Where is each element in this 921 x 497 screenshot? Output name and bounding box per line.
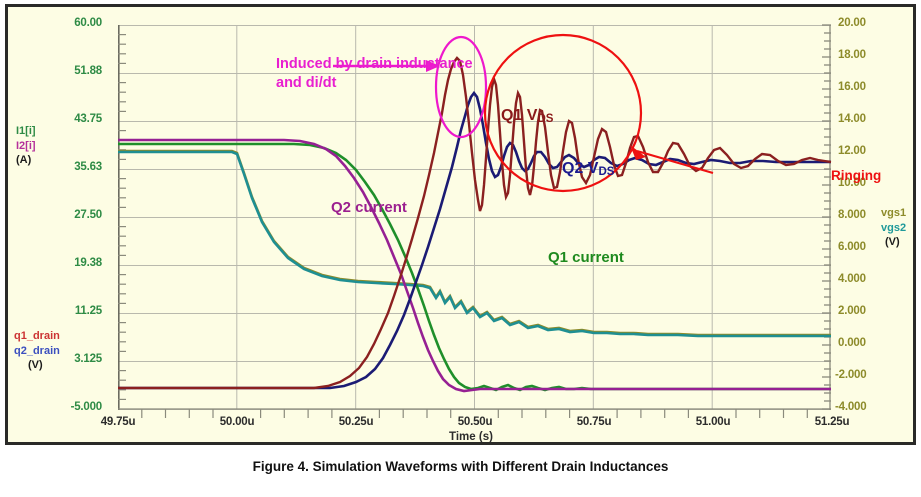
x-tick-6: 51.25u	[794, 416, 870, 428]
x-axis-title: Time (s)	[391, 431, 551, 443]
right-tick-0: 20.00	[838, 17, 866, 29]
x-tick-5: 51.00u	[675, 416, 751, 428]
legend-q2-drain: q2_drain	[14, 344, 60, 359]
legend-i1: I1[i]	[16, 124, 36, 139]
right-tick-9: 2.000	[838, 305, 866, 317]
x-tick-0: 49.75u	[80, 416, 156, 428]
red-arrow	[630, 145, 713, 173]
left-legend-drains: q1_drain q2_drain (V)	[14, 329, 60, 373]
annotation-q2-vds-subscript: DS	[598, 166, 614, 178]
right-tick-3: 14.00	[838, 113, 866, 125]
x-tick-1: 50.00u	[199, 416, 275, 428]
annotation-q2-vds-text: Q2 V	[562, 160, 598, 177]
legend-current-unit: (A)	[16, 153, 36, 168]
x-tick-3: 50.50u	[437, 416, 513, 428]
legend-vgs-unit: (V)	[881, 235, 906, 250]
annotation-q1-vds-subscript: DS	[537, 113, 553, 125]
left-tick-1: 51.88	[30, 65, 102, 77]
right-tick-2: 16.00	[838, 81, 866, 93]
plot-canvas: Induced by drain inductance and di/dt Q1…	[118, 25, 831, 410]
left-tick-4: 27.50	[30, 209, 102, 221]
right-tick-10: 0.000	[838, 337, 866, 349]
left-tick-3: 35.63	[30, 161, 102, 173]
figure-root: 60.00 51.88 43.75 35.63 27.50 19.38 11.2…	[0, 0, 921, 497]
right-tick-12: -4.000	[835, 401, 866, 413]
annotation-q1-vds: Q1 VDS	[501, 107, 553, 125]
annotation-q2-current: Q2 current	[331, 199, 407, 216]
right-tick-11: -2.000	[835, 369, 866, 381]
legend-i2: I2[i]	[16, 139, 36, 154]
legend-vgs1: vgs1	[881, 206, 906, 221]
annotation-ringing: Ringing	[831, 168, 881, 183]
legend-vgs2: vgs2	[881, 221, 906, 236]
left-legend-currents: I1[i] I2[i] (A)	[16, 124, 36, 168]
right-tick-8: 4.000	[838, 273, 866, 285]
left-tick-8: -5.000	[30, 401, 102, 413]
left-tick-5: 19.38	[30, 257, 102, 269]
right-tick-6: 8.000	[838, 209, 866, 221]
x-tick-2: 50.25u	[318, 416, 394, 428]
annotation-q1-current: Q1 current	[548, 249, 624, 266]
legend-q1-drain: q1_drain	[14, 329, 60, 344]
right-legend-vgs: vgs1 vgs2 (V)	[881, 206, 906, 250]
legend-drain-unit: (V)	[14, 358, 60, 373]
x-tick-4: 50.75u	[556, 416, 632, 428]
figure-caption: Figure 4. Simulation Waveforms with Diff…	[0, 459, 921, 474]
left-tick-2: 43.75	[30, 113, 102, 125]
annotation-q1-vds-text: Q1 V	[501, 107, 537, 124]
right-tick-7: 6.000	[838, 241, 866, 253]
plot-frame: 60.00 51.88 43.75 35.63 27.50 19.38 11.2…	[5, 4, 916, 445]
annotation-induced: Induced by drain inductance and di/dt	[276, 55, 486, 93]
right-tick-4: 12.00	[838, 145, 866, 157]
annotation-q2-vds: Q2 VDS	[562, 160, 614, 178]
left-tick-6: 11.25	[30, 305, 102, 317]
left-tick-0: 60.00	[30, 17, 102, 29]
right-tick-1: 18.00	[838, 49, 866, 61]
